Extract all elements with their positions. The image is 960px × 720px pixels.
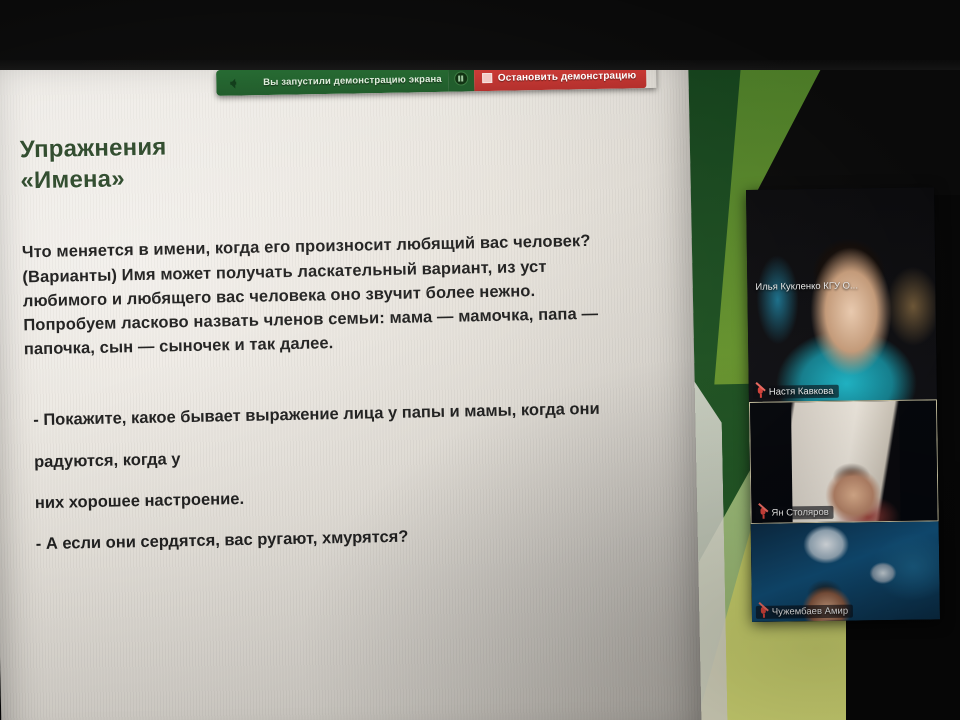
participant-name: Ян Столяров: [771, 507, 828, 519]
shared-slide: Упражнения «Имена» Что меняется в имени,…: [0, 44, 702, 720]
participant-tile[interactable]: Чужембаев Амир: [751, 521, 940, 622]
slide-title: Упражнения «Имена»: [20, 123, 661, 197]
slide-question-line: радуются, когда у: [34, 438, 666, 475]
participant-name: Настя Кавкова: [769, 386, 834, 398]
microphone-muted-icon: [756, 387, 765, 398]
participant-tile-active-speaker[interactable]: Ян Столяров: [749, 399, 939, 524]
microphone-muted-icon: [759, 607, 768, 618]
participant-filmstrip[interactable]: Илья Кукленко КГУ О... Настя Кавкова Ян …: [746, 187, 940, 622]
screen-share-arrow-icon: [224, 76, 237, 89]
microphone-muted-icon: [758, 508, 767, 519]
slide-question-line: них хорошее настроение.: [35, 479, 667, 516]
stop-square-icon: [482, 73, 492, 83]
participant-tile[interactable]: Настя Кавкова: [746, 187, 937, 402]
share-status: Вы запустили демонстрацию экрана: [216, 66, 448, 96]
slide-questions: - Покажите, какое бывает выражение лица …: [25, 395, 668, 557]
self-view-label: Илья Кукленко КГУ О...: [755, 280, 858, 292]
slide-body-paragraph: Что меняется в имени, когда его произнос…: [22, 228, 664, 362]
slide-question-line: - Покажите, какое бывает выражение лица …: [33, 395, 665, 432]
participant-name-tag: Настя Кавкова: [753, 385, 839, 399]
participant-name-tag: Чужембаев Амир: [756, 605, 853, 619]
participant-video: [746, 187, 937, 402]
monitor-photo: Упражнения «Имена» Что меняется в имени,…: [0, 0, 960, 720]
share-status-text: Вы запустили демонстрацию экрана: [263, 73, 442, 87]
slide-question-line: - А если они сердятся, вас ругают, хмуря…: [36, 519, 668, 556]
slide-content: Упражнения «Имена» Что меняется в имени,…: [20, 123, 669, 573]
participant-name-tag: Ян Столяров: [755, 506, 833, 520]
participant-name: Чужембаев Амир: [772, 606, 848, 618]
stop-share-label: Остановить демонстрацию: [498, 70, 637, 84]
monitor-bezel-top: [0, 0, 960, 70]
